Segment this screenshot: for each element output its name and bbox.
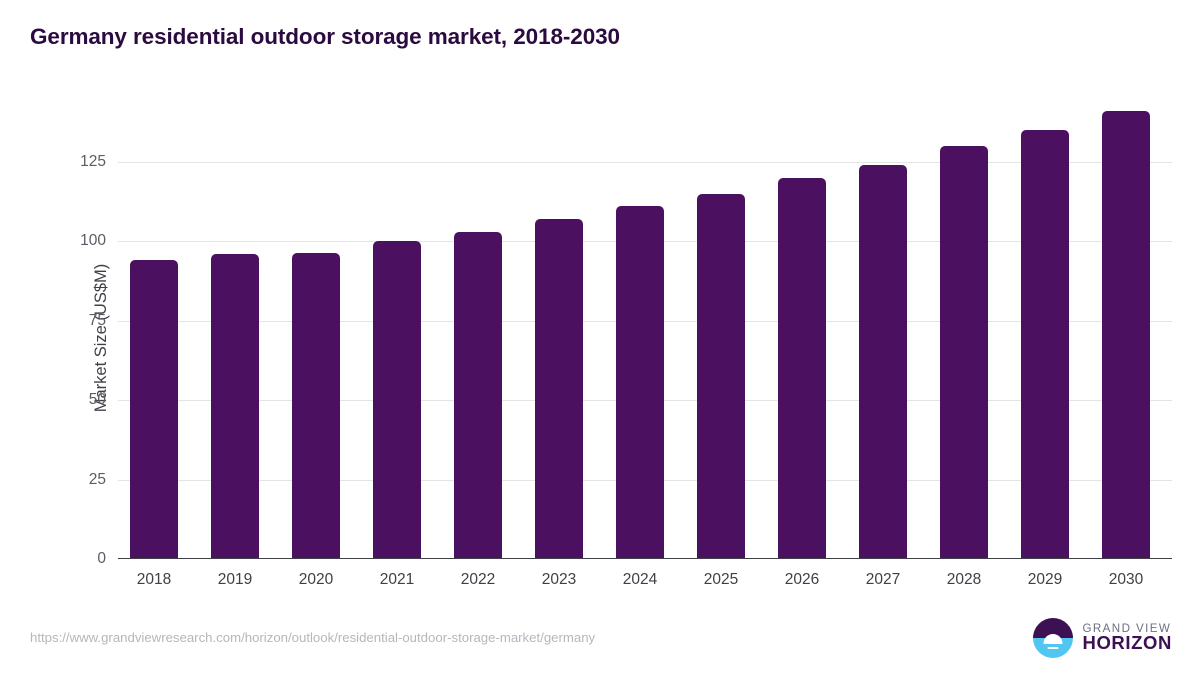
x-axis-tick-label: 2027 <box>845 571 921 589</box>
y-axis-tick-label: 100 <box>46 232 106 250</box>
chart-card: Germany residential outdoor storage mark… <box>0 0 1200 675</box>
logo-wordmark: GRAND VIEW HORIZON <box>1082 623 1172 654</box>
x-axis-tick-label: 2025 <box>683 571 759 589</box>
x-axis-tick-label: 2022 <box>440 571 516 589</box>
bar[interactable] <box>1021 130 1069 559</box>
x-axis-tick-label: 2020 <box>278 571 354 589</box>
y-axis-tick-label: 50 <box>46 391 106 409</box>
y-axis-tick-label: 0 <box>46 550 106 568</box>
y-axis-label: Market Size (US$M) <box>92 263 111 412</box>
bar[interactable] <box>697 194 745 559</box>
bar[interactable] <box>940 146 988 559</box>
x-axis-line <box>118 558 1172 560</box>
bar[interactable] <box>373 241 421 559</box>
y-axis-tick-label: 25 <box>46 471 106 489</box>
x-axis-tick-label: 2029 <box>1007 571 1083 589</box>
page-title: Germany residential outdoor storage mark… <box>30 24 620 50</box>
grand-view-horizon-circle-icon <box>1033 618 1073 658</box>
bar[interactable] <box>1102 111 1150 559</box>
bar[interactable] <box>211 254 259 559</box>
bar[interactable] <box>859 165 907 559</box>
bar[interactable] <box>454 232 502 559</box>
x-axis-tick-label: 2019 <box>197 571 273 589</box>
bar[interactable] <box>616 206 664 559</box>
bar[interactable] <box>535 219 583 559</box>
bar-series <box>118 100 1172 559</box>
x-axis-tick-label: 2021 <box>359 571 435 589</box>
y-axis-tick-label: 125 <box>46 153 106 171</box>
x-axis-tick-label: 2030 <box>1088 571 1164 589</box>
bar[interactable] <box>778 178 826 559</box>
x-axis-tick-label: 2028 <box>926 571 1002 589</box>
x-axis-tick-label: 2026 <box>764 571 840 589</box>
x-axis-tick-label: 2018 <box>116 571 192 589</box>
x-axis-tick-label: 2023 <box>521 571 597 589</box>
bar[interactable] <box>292 253 340 559</box>
bar[interactable] <box>130 260 178 559</box>
brand-logo[interactable]: GRAND VIEW HORIZON <box>1033 618 1172 658</box>
logo-text-horizon: HORIZON <box>1082 634 1172 653</box>
plot-area <box>118 100 1172 559</box>
y-axis-tick-label: 75 <box>46 312 106 330</box>
source-url[interactable]: https://www.grandviewresearch.com/horizo… <box>30 630 595 645</box>
x-axis-tick-label: 2024 <box>602 571 678 589</box>
